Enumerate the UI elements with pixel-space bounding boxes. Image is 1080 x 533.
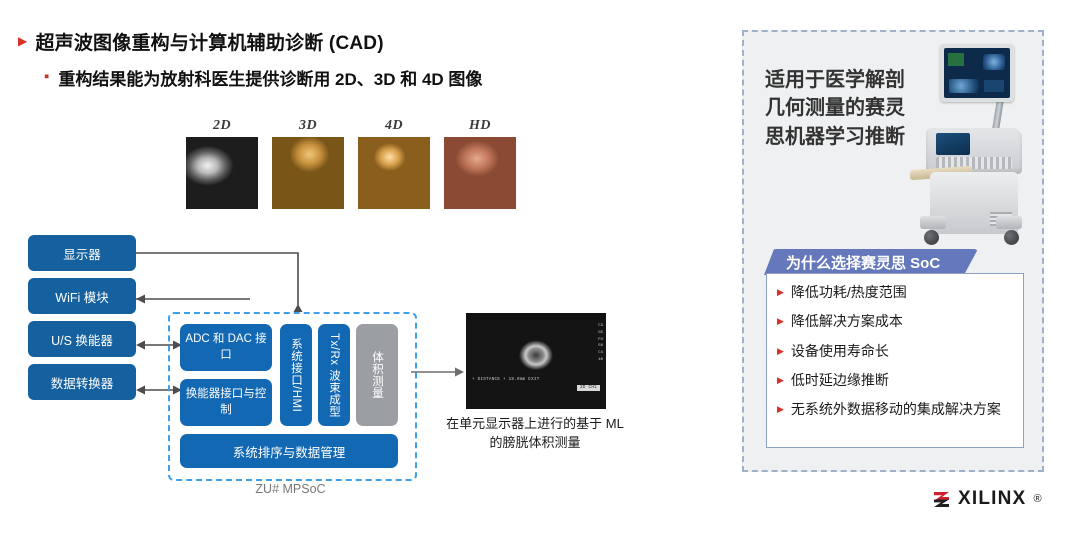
why-item-label: 低时延边缘推断 xyxy=(791,371,889,390)
block-system-interface-hmi[interactable]: 系统接口/HMI xyxy=(280,324,312,426)
external-block-column: 显示器 WiFi 模块 U/S 换能器 数据转换器 xyxy=(28,235,136,407)
list-item: ▶ 无系统外数据移动的集成解决方案 xyxy=(777,400,1013,419)
thumbnail-cell: 2D xyxy=(186,118,258,209)
monitor-screen xyxy=(944,48,1010,98)
triangle-bullet-icon: ▶ xyxy=(777,400,784,419)
block-system-sequencing-data-management[interactable]: 系统排序与数据管理 xyxy=(180,434,398,468)
scan-overlay-text: + DISTANCE + 18.0mm EXIT xyxy=(472,377,540,383)
mpsoc-container: ADC 和 DAC 接口 换能器接口与控制 系统接口/HMI Tx/Rx 波束成… xyxy=(168,312,417,481)
list-item: ▶ 低时延边缘推断 xyxy=(777,371,1013,390)
xilinx-trademark: ® xyxy=(1033,493,1041,505)
monitor-screen-pane-c xyxy=(984,80,1004,92)
machine-foot-right xyxy=(996,216,1022,229)
why-item-label: 无系统外数据移动的集成解决方案 xyxy=(791,400,1001,419)
ultrasound-thumbnail-strip: 2D 3D 4D HD xyxy=(186,118,516,209)
headline-bullet-level2: ▪ 重构结果能为放射科医生提供诊断用 2D、3D 和 4D 图像 xyxy=(44,65,718,90)
fetal-ultrasound-hd-image xyxy=(444,137,516,209)
why-soc-tab-header: 为什么选择赛灵思 SoC xyxy=(764,249,978,275)
thumbnail-label-4d: 4D xyxy=(358,118,430,134)
block-data-converter[interactable]: 数据转换器 xyxy=(28,364,136,400)
thumbnail-cell: HD xyxy=(444,118,516,209)
mpsoc-caption: ZU# MPSoC xyxy=(168,482,413,496)
subheadline-text: 重构结果能为放射科医生提供诊断用 2D、3D 和 4D 图像 xyxy=(58,65,482,90)
scan-caption: 在单元显示器上进行的基于 ML 的膀胱体积测量 xyxy=(440,415,630,453)
machine-monitor xyxy=(940,44,1014,102)
thumbnail-label-hd: HD xyxy=(444,118,516,134)
headline-text: 超声波图像重构与计算机辅助诊断 (CAD) xyxy=(35,28,383,55)
xilinx-wordmark: XILINX xyxy=(958,488,1026,510)
thumbnail-label-2d: 2D xyxy=(186,118,258,134)
bladder-ultrasound-scan-image: + DISTANCE + 18.0mm EXIT 2D CH1 C3G5P450… xyxy=(466,313,606,409)
list-item: ▶ 降低功耗/热度范围 xyxy=(777,283,1013,302)
list-item: ▶ 降低解决方案成本 xyxy=(777,312,1013,331)
block-us-transducer[interactable]: U/S 换能器 xyxy=(28,321,136,357)
triangle-bullet-icon: ▶ xyxy=(777,312,784,331)
triangle-bullet-icon: ▶ xyxy=(18,28,27,54)
scan-side-readout: C3G5P450C440 xyxy=(598,323,603,364)
right-highlight-panel: 适用于医学解剖几何测量的赛灵思机器学习推断 为什么选择赛灵思 SoC ▶ 降低功… xyxy=(742,30,1044,472)
why-soc-list: ▶ 降低功耗/热度范围 ▶ 降低解决方案成本 ▶ 设备使用寿命长 ▶ 低时延边缘… xyxy=(766,273,1024,448)
block-transducer-interface-control[interactable]: 换能器接口与控制 xyxy=(180,379,272,426)
headline-area: ▶ 超声波图像重构与计算机辅助诊断 (CAD) ▪ 重构结果能为放射科医生提供诊… xyxy=(18,28,718,90)
thumbnail-cell: 3D xyxy=(272,118,344,209)
thumbnail-cell: 4D xyxy=(358,118,430,209)
block-wifi-module[interactable]: WiFi 模块 xyxy=(28,278,136,314)
fetal-ultrasound-2d-image xyxy=(186,137,258,209)
block-volume-measurement[interactable]: 体积测量 xyxy=(356,324,398,426)
machine-wheel-left xyxy=(924,230,939,245)
machine-foot-left xyxy=(920,216,946,229)
triangle-bullet-icon: ▶ xyxy=(777,342,784,361)
block-txrx-beamforming[interactable]: Tx/Rx 波束成型 xyxy=(318,324,350,426)
fetal-ultrasound-4d-image xyxy=(358,137,430,209)
mpsoc-left-column: ADC 和 DAC 接口 换能器接口与控制 xyxy=(180,324,272,434)
fetal-ultrasound-3d-image xyxy=(272,137,344,209)
why-item-label: 设备使用寿命长 xyxy=(791,342,889,361)
headline-bullet-level1: ▶ 超声波图像重构与计算机辅助诊断 (CAD) xyxy=(18,28,718,55)
block-adc-dac-interface[interactable]: ADC 和 DAC 接口 xyxy=(180,324,272,371)
why-item-label: 降低功耗/热度范围 xyxy=(791,283,907,302)
dash-bullet-icon: ▪ xyxy=(44,65,49,88)
thumbnail-label-3d: 3D xyxy=(272,118,344,134)
monitor-screen-pane-b xyxy=(949,79,979,93)
triangle-bullet-icon: ▶ xyxy=(777,371,784,390)
machine-wheel-right xyxy=(1004,230,1019,245)
list-item: ▶ 设备使用寿命长 xyxy=(777,342,1013,361)
console-touchscreen xyxy=(936,133,970,155)
xilinx-x-mark-icon xyxy=(932,490,951,509)
block-display[interactable]: 显示器 xyxy=(28,235,136,271)
ultrasound-cart-machine-image xyxy=(904,40,1040,260)
triangle-bullet-icon: ▶ xyxy=(777,283,784,302)
xilinx-logo: XILINX ® xyxy=(932,488,1042,510)
scan-overlay-chip: 2D CH1 xyxy=(577,385,600,391)
scan-top-bar xyxy=(466,313,606,320)
why-item-label: 降低解决方案成本 xyxy=(791,312,903,331)
right-panel-title: 适用于医学解剖几何测量的赛灵思机器学习推断 xyxy=(760,66,910,151)
